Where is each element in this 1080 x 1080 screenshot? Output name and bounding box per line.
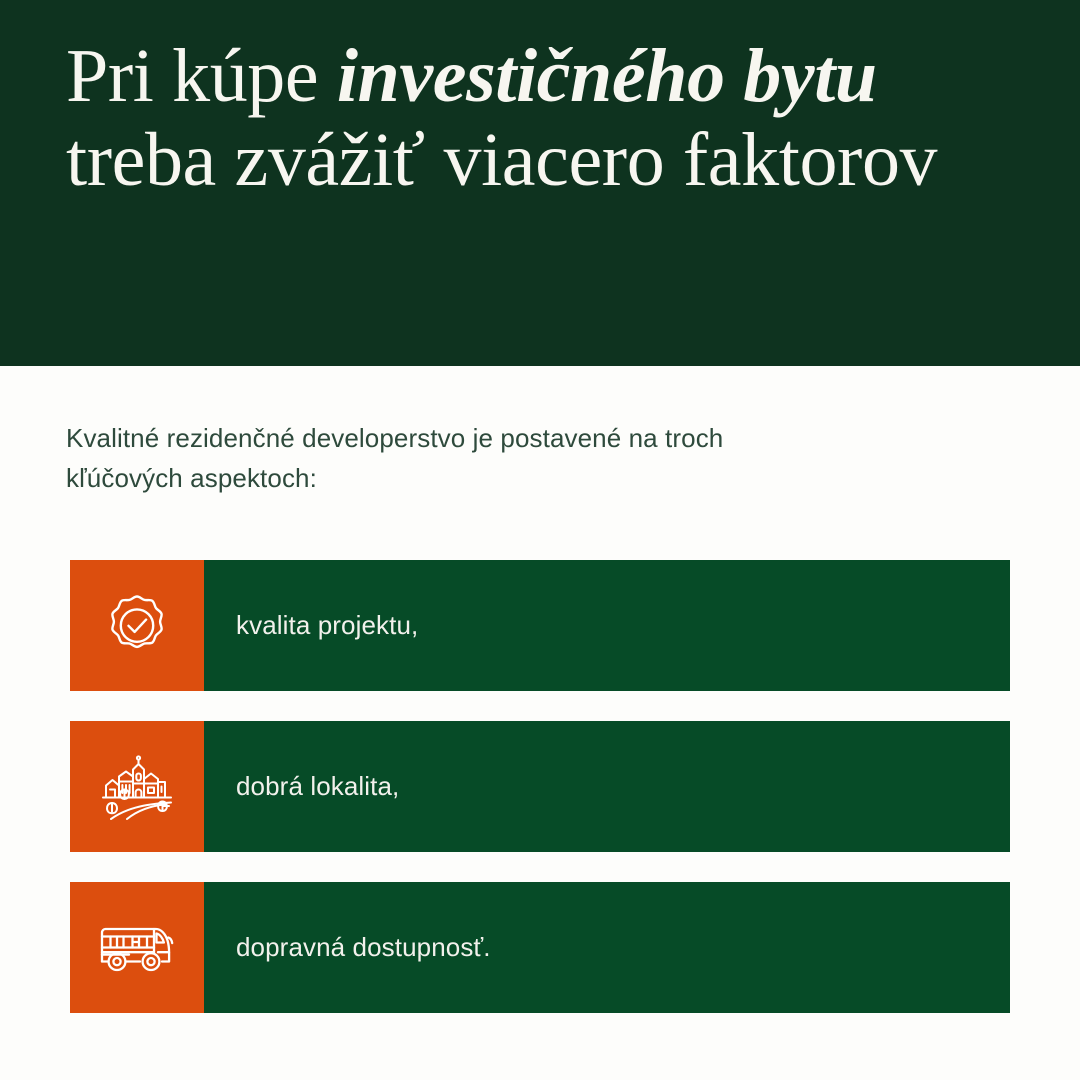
quality-badge-check-icon-tile	[70, 560, 204, 691]
townscape-location-icon	[99, 749, 175, 825]
header-band: Pri kúpe investičného bytu treba zvážiť …	[0, 0, 1080, 366]
townscape-location-icon-tile	[70, 721, 204, 852]
aspect-row-location: dobrá lokalita,	[70, 721, 1010, 852]
bus-transport-icon-tile	[70, 882, 204, 1013]
headline-emphasis: investičného bytu	[337, 34, 877, 118]
aspect-row-quality: kvalita projektu,	[70, 560, 1010, 691]
headline-text-part2: treba zvážiť viacero faktorov	[66, 118, 937, 202]
aspect-label-location: dobrá lokalita,	[204, 721, 1010, 852]
aspect-list: kvalita projektu,	[70, 560, 1010, 1013]
aspect-label-quality: kvalita projektu,	[204, 560, 1010, 691]
headline-text-part1: Pri kúpe	[66, 34, 337, 118]
intro-paragraph: Kvalitné rezidenčné developerstvo je pos…	[66, 418, 786, 499]
quality-badge-check-icon	[102, 591, 172, 661]
aspect-label-transport: dopravná dostupnosť.	[204, 882, 1010, 1013]
bus-transport-icon	[96, 918, 178, 978]
page-title: Pri kúpe investičného bytu treba zvážiť …	[66, 34, 946, 203]
aspect-row-transport: dopravná dostupnosť.	[70, 882, 1010, 1013]
